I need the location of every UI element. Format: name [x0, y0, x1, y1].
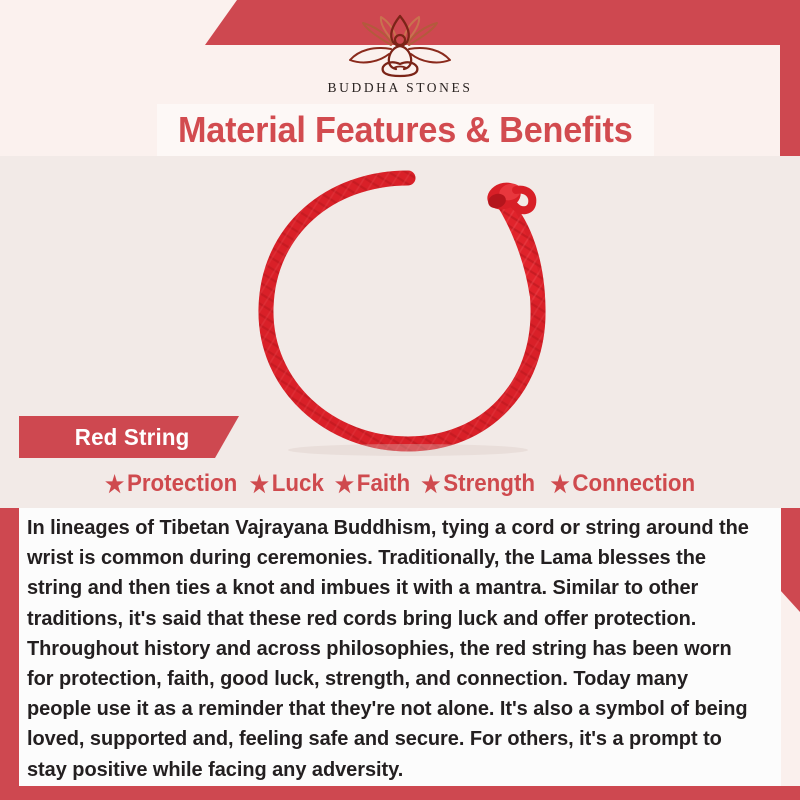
star-icon: ★ — [550, 473, 569, 496]
benefit-faith: ★ Faith — [334, 470, 409, 498]
lotus-meditation-figure-icon — [335, 12, 465, 78]
infographic-page: BUDDHA STONES Material Features & Benefi… — [0, 0, 800, 800]
benefit-luck: ★ Luck — [250, 470, 324, 498]
benefit-label: Protection — [127, 470, 237, 498]
ribbon-label: Red String — [75, 424, 190, 451]
red-string-ribbon: Red String — [19, 416, 239, 458]
benefit-label: Connection — [572, 470, 695, 498]
star-icon: ★ — [422, 473, 441, 496]
description-text: In lineages of Tibetan Vajrayana Buddhis… — [27, 513, 756, 785]
decorative-bar-bottom — [0, 786, 800, 800]
benefit-protection: ★ Protection — [105, 470, 237, 498]
headline-band: Material Features & Benefits — [157, 104, 654, 156]
star-icon: ★ — [105, 473, 124, 496]
benefit-label: Luck — [272, 470, 324, 498]
star-icon: ★ — [250, 473, 269, 496]
benefit-label: Faith — [356, 470, 409, 498]
star-icon: ★ — [334, 473, 353, 496]
red-string-bracelet-image — [238, 168, 578, 458]
benefit-strength: ★ Strength — [422, 470, 536, 498]
description-panel: In lineages of Tibetan Vajrayana Buddhis… — [19, 508, 781, 786]
brand-name: BUDDHA STONES — [328, 80, 473, 96]
benefit-label: Strength — [444, 470, 536, 498]
benefit-connection: ★ Connection — [550, 470, 695, 498]
brand-logo: BUDDHA STONES — [0, 12, 800, 96]
page-title: Material Features & Benefits — [178, 109, 633, 151]
benefits-row: ★ Protection ★ Luck ★ Faith ★ Strength ★… — [0, 463, 800, 505]
